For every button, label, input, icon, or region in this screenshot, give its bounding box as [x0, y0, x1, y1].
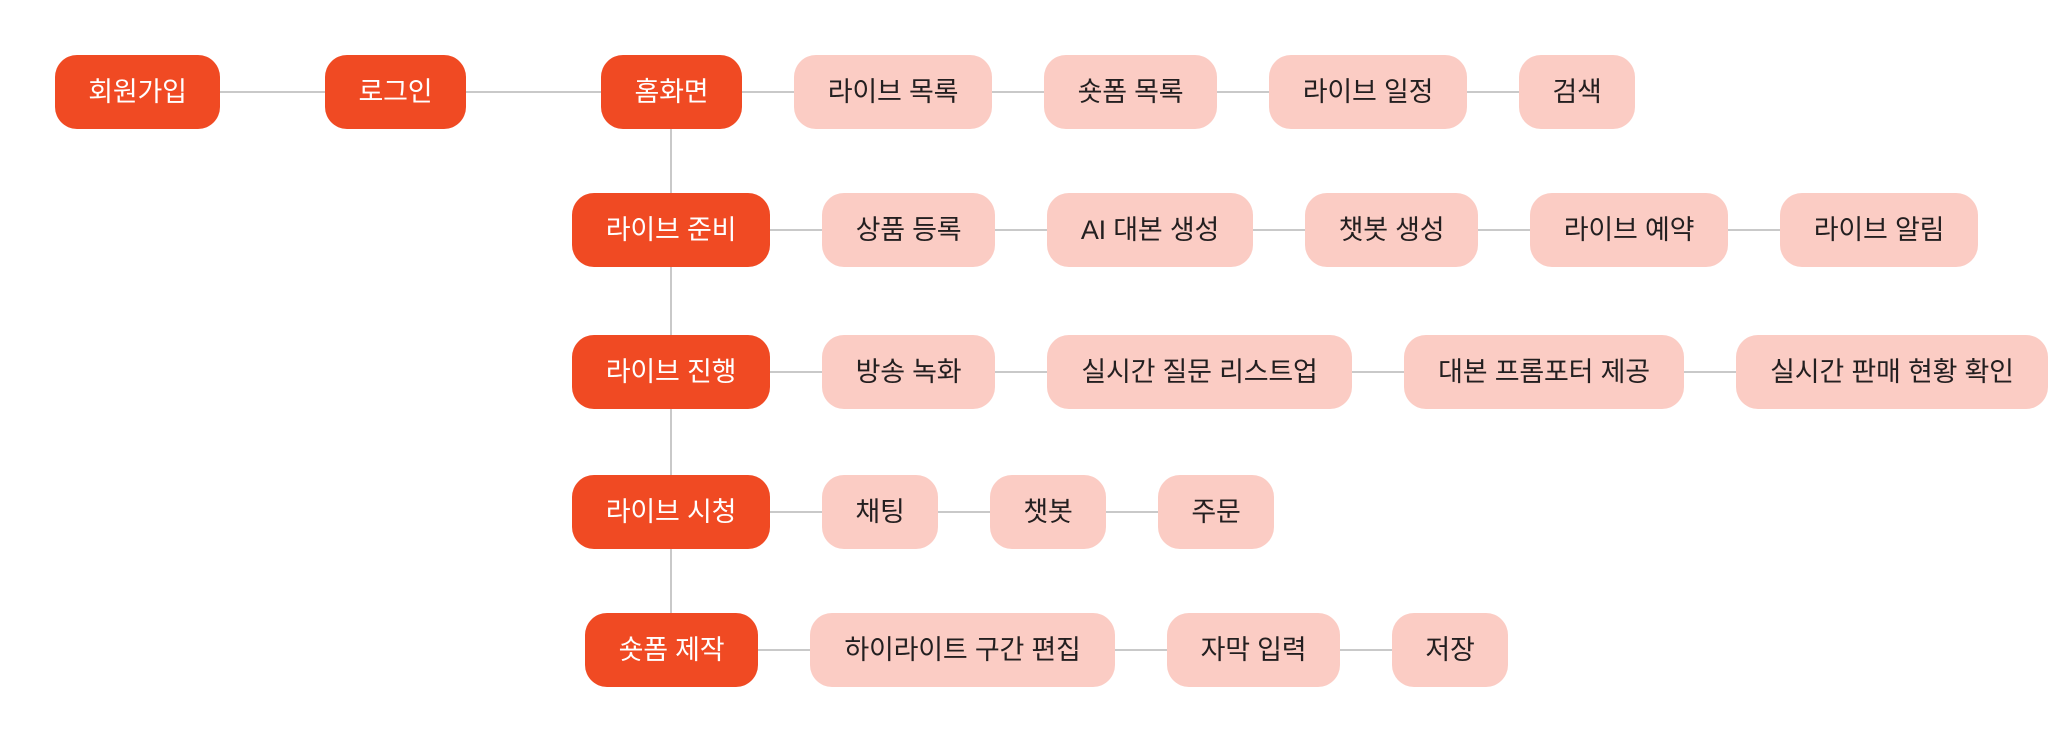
- flow-node-label: 라이브 일정: [1303, 79, 1434, 106]
- flow-node-highlight-edit[interactable]: 하이라이트 구간 편집: [810, 613, 1115, 687]
- connector-live-watch-to-order: [1106, 511, 1158, 513]
- flow-node-product-register[interactable]: 상품 등록: [822, 193, 995, 267]
- connector-shortform-produce-to-save: [1340, 649, 1392, 651]
- flow-node-caption-input[interactable]: 자막 입력: [1167, 613, 1340, 687]
- connector-live-broadcast-to-realtime-sales-status: [1684, 371, 1736, 373]
- flow-node-live-broadcast[interactable]: 라이브 진행: [572, 335, 770, 409]
- flow-node-chat[interactable]: 채팅: [822, 475, 938, 549]
- connector-home-to-shortform-list: [992, 91, 1044, 93]
- flow-node-label: 저장: [1425, 637, 1474, 664]
- flow-node-label: 상품 등록: [856, 217, 962, 244]
- flow-node-broadcast-record[interactable]: 방송 녹화: [822, 335, 995, 409]
- flow-node-label: 실시간 판매 현황 확인: [1770, 359, 2014, 386]
- flow-node-live-alarm[interactable]: 라이브 알림: [1780, 193, 1978, 267]
- flow-node-signup[interactable]: 회원가입: [55, 55, 220, 129]
- flow-node-label: 숏폼 제작: [619, 637, 725, 664]
- flow-node-label: 주문: [1191, 499, 1240, 526]
- connector-live-prepare-to-product-register: [770, 229, 822, 231]
- connector-shortform-produce-to-caption-input: [1115, 649, 1167, 651]
- flow-node-label: 숏폼 목록: [1078, 79, 1184, 106]
- connector-live-watch-to-chatbot: [938, 511, 990, 513]
- flow-node-label: 홈화면: [635, 79, 709, 106]
- connector-spine-home-to-live-prepare: [670, 129, 672, 193]
- connector-shortform-produce-to-highlight-edit: [758, 649, 810, 651]
- flow-node-label: 방송 녹화: [856, 359, 962, 386]
- connector-home-to-search: [1467, 91, 1519, 93]
- flow-node-chatbot-create[interactable]: 챗봇 생성: [1305, 193, 1478, 267]
- connector-live-broadcast-to-script-prompter: [1352, 371, 1404, 373]
- flow-node-label: 로그인: [359, 79, 433, 106]
- flow-node-label: 회원가입: [88, 79, 187, 106]
- flow-node-live-reserve[interactable]: 라이브 예약: [1530, 193, 1728, 267]
- flow-node-live-list[interactable]: 라이브 목록: [794, 55, 992, 129]
- connector-live-broadcast-to-realtime-question-listup: [995, 371, 1047, 373]
- flow-node-label: 실시간 질문 리스트업: [1081, 359, 1317, 386]
- connector-live-prepare-to-ai-script-generate: [995, 229, 1047, 231]
- flow-node-shortform-list[interactable]: 숏폼 목록: [1044, 55, 1217, 129]
- connector-signup-to-login: [220, 91, 325, 93]
- connector-live-prepare-to-chatbot-create: [1253, 229, 1305, 231]
- connector-live-prepare-to-live-alarm: [1728, 229, 1780, 231]
- flow-node-live-prepare[interactable]: 라이브 준비: [572, 193, 770, 267]
- flow-node-label: 라이브 목록: [828, 79, 959, 106]
- flow-node-label: 라이브 시청: [606, 499, 737, 526]
- flow-node-label: 하이라이트 구간 편집: [844, 637, 1080, 664]
- flow-node-label: 채팅: [855, 499, 904, 526]
- connector-spine-live-watch-to-shortform-produce: [670, 549, 672, 613]
- flow-node-label: 챗봇: [1023, 499, 1072, 526]
- flow-node-label: 라이브 예약: [1564, 217, 1695, 244]
- flow-node-realtime-question-listup[interactable]: 실시간 질문 리스트업: [1047, 335, 1352, 409]
- flow-node-label: 챗봇 생성: [1339, 217, 1445, 244]
- flow-node-label: 자막 입력: [1201, 637, 1307, 664]
- connector-home-to-live-list: [742, 91, 794, 93]
- connector-live-watch-to-chat: [770, 511, 822, 513]
- flow-node-home[interactable]: 홈화면: [601, 55, 742, 129]
- flow-node-label: 라이브 알림: [1814, 217, 1945, 244]
- flow-node-label: 라이브 준비: [606, 217, 737, 244]
- flow-node-live-watch[interactable]: 라이브 시청: [572, 475, 770, 549]
- flow-node-search[interactable]: 검색: [1519, 55, 1635, 129]
- flow-node-chatbot[interactable]: 챗봇: [990, 475, 1106, 549]
- flow-node-label: AI 대본 생성: [1081, 217, 1219, 244]
- connector-live-prepare-to-live-reserve: [1478, 229, 1530, 231]
- flow-node-script-prompter[interactable]: 대본 프롬포터 제공: [1404, 335, 1684, 409]
- flow-node-order[interactable]: 주문: [1158, 475, 1274, 549]
- flow-node-realtime-sales-status[interactable]: 실시간 판매 현황 확인: [1736, 335, 2048, 409]
- connector-live-broadcast-to-broadcast-record: [770, 371, 822, 373]
- flow-node-label: 검색: [1552, 79, 1601, 106]
- flow-node-login[interactable]: 로그인: [325, 55, 466, 129]
- connector-login-to-home: [466, 91, 601, 93]
- flow-node-shortform-produce[interactable]: 숏폼 제작: [585, 613, 758, 687]
- flow-node-save[interactable]: 저장: [1392, 613, 1508, 687]
- flow-node-ai-script-generate[interactable]: AI 대본 생성: [1047, 193, 1253, 267]
- flowchart-canvas: 회원가입로그인홈화면라이브 준비라이브 진행라이브 시청숏폼 제작라이브 목록숏…: [0, 0, 2048, 740]
- connector-home-to-live-schedule: [1217, 91, 1269, 93]
- flow-node-label: 대본 프롬포터 제공: [1438, 359, 1650, 386]
- connector-spine-live-prepare-to-live-broadcast: [670, 267, 672, 335]
- flow-node-live-schedule[interactable]: 라이브 일정: [1269, 55, 1467, 129]
- connector-spine-live-broadcast-to-live-watch: [670, 409, 672, 475]
- flow-node-label: 라이브 진행: [606, 359, 737, 386]
